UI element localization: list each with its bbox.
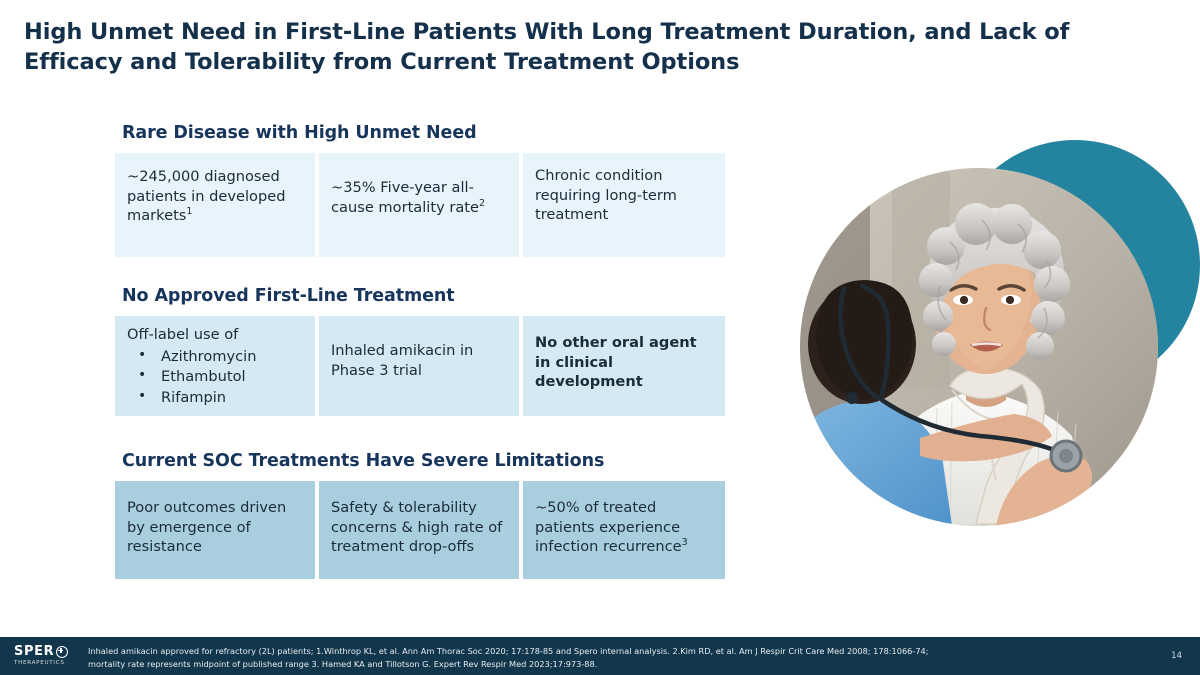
page-number: 14 (1171, 651, 1182, 661)
info-box-text: Off-label use of (127, 326, 238, 343)
info-box: Inhaled amikacin in Phase 3 trial (319, 316, 519, 416)
info-box: No other oral agent in clinical developm… (523, 316, 725, 416)
footnote-marker: 3 (682, 537, 688, 548)
box-row: Poor outcomes driven by emergence of res… (115, 481, 725, 579)
info-box-text: Safety & tolerability concerns & high ra… (331, 499, 502, 555)
section-soc-limitations: Current SOC Treatments Have Severe Limit… (115, 451, 725, 579)
list-item: Rifampin (127, 388, 301, 409)
info-box: ~35% Five-year all-cause mortality rate2 (319, 153, 519, 257)
spero-mark-icon (56, 646, 68, 658)
footer-bar: SPER THERAPEUTICS Inhaled amikacin appro… (0, 637, 1200, 675)
spero-logo: SPER THERAPEUTICS (14, 645, 80, 666)
logo-wordmark: SPER (14, 645, 54, 658)
box-row: Off-label use of Azithromycin Ethambutol… (115, 316, 725, 416)
patient-photo (800, 168, 1158, 526)
info-box: Poor outcomes driven by emergence of res… (115, 481, 315, 579)
info-box-text: No other oral agent in clinical developm… (535, 334, 697, 390)
section-no-approved-treatment: No Approved First-Line Treatment Off-lab… (115, 286, 725, 416)
content-column: Rare Disease with High Unmet Need ~245,0… (0, 0, 760, 675)
info-box: Chronic condition requiring long-term tr… (523, 153, 725, 257)
info-box-text: Chronic condition requiring long-term tr… (535, 167, 677, 223)
info-box-text: ~50% of treated patients experience infe… (535, 499, 682, 555)
logo-subtitle: THERAPEUTICS (14, 660, 80, 666)
list-item: Azithromycin (127, 347, 301, 368)
section-heading: Current SOC Treatments Have Severe Limit… (122, 451, 725, 472)
section-heading: Rare Disease with High Unmet Need (122, 123, 725, 144)
box-row: ~245,000 diagnosed patients in developed… (115, 153, 725, 257)
info-box-text: Poor outcomes driven by emergence of res… (127, 499, 286, 555)
info-box: ~50% of treated patients experience infe… (523, 481, 725, 579)
reference-line: Inhaled amikacin approved for refractory… (88, 645, 1128, 658)
footnote-marker: 2 (479, 198, 485, 209)
bullet-list: Azithromycin Ethambutol Rifampin (127, 347, 301, 409)
list-item: Ethambutol (127, 367, 301, 388)
section-rare-disease: Rare Disease with High Unmet Need ~245,0… (115, 123, 725, 257)
info-box: Safety & tolerability concerns & high ra… (319, 481, 519, 579)
info-box: Off-label use of Azithromycin Ethambutol… (115, 316, 315, 416)
info-box: ~245,000 diagnosed patients in developed… (115, 153, 315, 257)
info-box-text: ~35% Five-year all-cause mortality rate (331, 179, 479, 216)
slide: High Unmet Need in First-Line Patients W… (0, 0, 1200, 675)
info-box-text: Inhaled amikacin in Phase 3 trial (331, 342, 473, 379)
footnote-marker: 1 (186, 206, 192, 217)
graphic-area (770, 130, 1190, 560)
info-box-text: ~245,000 diagnosed patients in developed… (127, 168, 285, 224)
references: Inhaled amikacin approved for refractory… (88, 645, 1128, 671)
reference-line: mortality rate represents midpoint of pu… (88, 658, 1128, 671)
section-heading: No Approved First-Line Treatment (122, 286, 725, 307)
